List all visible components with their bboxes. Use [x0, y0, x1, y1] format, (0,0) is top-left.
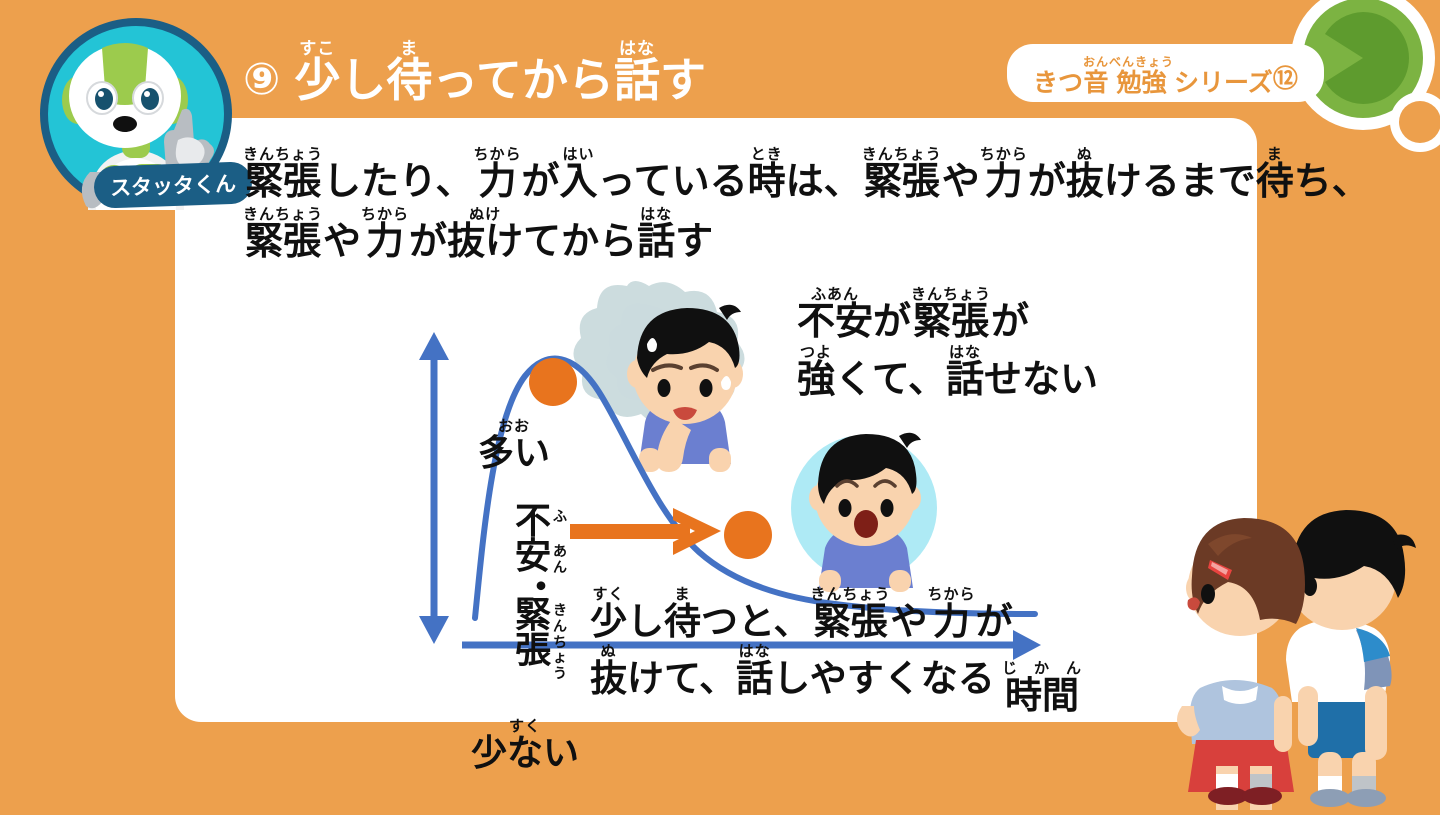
- boy-watching: [1286, 510, 1416, 807]
- x-axis-title: じ か ん時間: [1002, 660, 1082, 715]
- title-number: ⑨: [243, 58, 280, 104]
- watching-children-illustration: [1160, 500, 1440, 815]
- y-axis-arrow: [419, 332, 449, 644]
- caption-line-1: すく少 し ま待 つと、 きんちょう緊張 や ちから力 が: [590, 586, 1013, 641]
- anxious-boy-illustration: [573, 281, 744, 472]
- callout-line-2: つよ強 くて、 はな話 せない: [797, 344, 1098, 400]
- callout-anxious: ふあん不安 が きんちょう緊張 が つよ強 くて、 はな話 せない: [797, 286, 1098, 402]
- y-axis-title: 不ふ 安あん ・ 緊張きんちょう: [505, 503, 577, 682]
- title-text: すこ少 し ま待 ってから はな話 す: [294, 40, 706, 104]
- slide-stage: スタッタくん ⑨ すこ少 し ま待 ってから はな話 す きつ おん音 べんきょ…: [0, 0, 1440, 810]
- series-number: ⑫: [1273, 59, 1298, 96]
- calm-marker: [724, 511, 772, 559]
- callout-line-1: ふあん不安 が きんちょう緊張 が: [797, 286, 1098, 342]
- caption-line-2: ぬ抜 けて、 はな話 しやすくなる: [590, 643, 1013, 698]
- page-title: ⑨ すこ少 し ま待 ってから はな話 す: [243, 40, 706, 104]
- girl-watching: [1177, 518, 1305, 810]
- series-badge: きつ おん音 べんきょう勉強 シリーズ ⑫: [1007, 44, 1324, 102]
- relaxed-boy-illustration: [791, 433, 937, 592]
- y-axis-top-label: おお多い: [478, 418, 550, 472]
- caption-calm: すく少 し ま待 つと、 きんちょう緊張 や ちから力 が ぬ抜 けて、 はな話…: [590, 586, 1013, 699]
- y-axis-bottom-label: すく少ない: [471, 718, 579, 772]
- peak-marker: [529, 358, 577, 406]
